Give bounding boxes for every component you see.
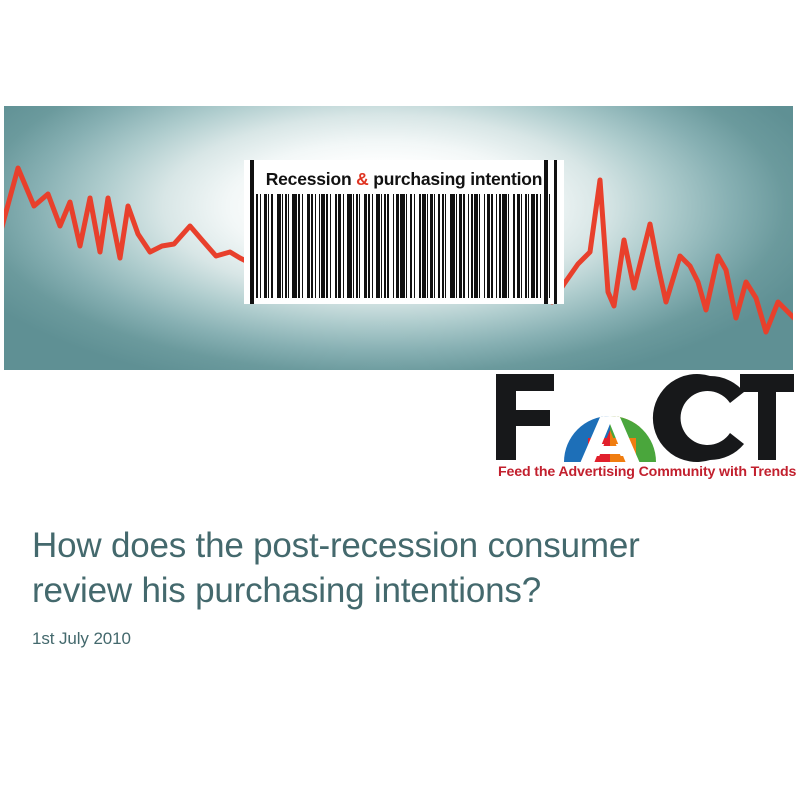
barcode-bar — [487, 194, 490, 298]
barcode-bar — [307, 194, 310, 298]
barcode-bar — [499, 194, 501, 298]
barcode-bar — [463, 194, 465, 298]
barcode-bar — [491, 194, 493, 298]
barcode-bar — [264, 194, 267, 298]
barcode-bar — [282, 194, 283, 298]
logo-tagline: Feed the Advertising Community with Tren… — [498, 464, 796, 480]
logo-letter-c — [653, 374, 744, 462]
barcode-bar — [315, 194, 316, 298]
barcode-bar — [528, 194, 529, 298]
barcode-bar — [459, 194, 462, 298]
barcode-bar — [256, 194, 258, 298]
barcode-graphic: Recession & purchasing intention — [244, 160, 564, 304]
barcode-bar — [393, 194, 394, 298]
barcode-bar — [521, 194, 522, 298]
barcode-bar — [335, 194, 337, 298]
barcode-bar — [298, 194, 300, 298]
barcode-bar — [410, 194, 412, 298]
barcode-bar — [381, 194, 382, 298]
barcode-bar — [277, 194, 281, 298]
barcode-bar — [285, 194, 287, 298]
barcode-bar — [484, 194, 485, 298]
barcode-bar — [549, 194, 550, 298]
barcode-caption-prefix: Recession — [266, 169, 356, 189]
barcode-bar — [302, 194, 303, 298]
barcode-bar — [400, 194, 405, 298]
barcode-bar — [387, 194, 389, 298]
barcode-bar — [406, 194, 407, 298]
barcode-bar — [396, 194, 399, 298]
barcode-bar — [517, 194, 520, 298]
logo-a-crossbar-white — [596, 446, 624, 454]
barcode-bar — [450, 194, 455, 298]
barcode-bar — [438, 194, 440, 298]
barcode-bar — [311, 194, 313, 298]
barcode-bar — [330, 194, 331, 298]
barcode-bar — [513, 194, 515, 298]
barcode-bar — [356, 194, 358, 298]
logo-wedge-red — [596, 368, 632, 416]
barcode-bar — [359, 194, 360, 298]
barcode-bar — [368, 194, 370, 298]
presentation-slide: Recession & purchasing intention — [0, 0, 800, 800]
barcode-bar — [414, 194, 415, 298]
barcode-bar — [456, 194, 457, 298]
barcode-bar — [445, 194, 446, 298]
logo-letter-f — [496, 374, 554, 460]
barcode-bar — [430, 194, 433, 298]
barcode-bar — [536, 194, 538, 298]
barcode-bars — [256, 194, 552, 298]
trend-line-right — [552, 180, 793, 332]
barcode-bar — [319, 194, 320, 298]
barcode-bar — [474, 194, 478, 298]
barcode-bar — [321, 194, 325, 298]
title-block: How does the post-recession consumer rev… — [32, 523, 762, 649]
barcode-caption-ampersand: & — [356, 169, 368, 189]
barcode-bar — [326, 194, 328, 298]
fact-logo: Feed the Advertising Community with Tren… — [492, 368, 796, 480]
barcode-bar — [384, 194, 386, 298]
barcode-bar — [271, 194, 273, 298]
barcode-caption: Recession & purchasing intention — [244, 166, 564, 192]
barcode-bar — [496, 194, 497, 298]
barcode-bar — [347, 194, 352, 298]
barcode-bar — [508, 194, 509, 298]
barcode-bar — [468, 194, 469, 298]
slide-date: 1st July 2010 — [32, 629, 762, 649]
barcode-bar — [471, 194, 473, 298]
barcode-bar — [525, 194, 527, 298]
barcode-bar — [376, 194, 380, 298]
page-title: How does the post-recession consumer rev… — [32, 523, 762, 613]
barcode-caption-text: Recession & purchasing intention — [266, 169, 543, 190]
trend-line-left — [4, 168, 258, 292]
barcode-bar — [540, 194, 541, 298]
barcode-bar — [343, 194, 344, 298]
barcode-bar — [364, 194, 367, 298]
barcode-bar — [427, 194, 428, 298]
hero-banner: Recession & purchasing intention — [4, 106, 793, 370]
barcode-guard-bar-left — [250, 160, 254, 304]
barcode-bar — [338, 194, 341, 298]
barcode-bar — [268, 194, 269, 298]
barcode-guard-bar-right-outer — [554, 160, 557, 304]
barcode-bar — [353, 194, 354, 298]
barcode-bar — [292, 194, 297, 298]
barcode-bar — [288, 194, 289, 298]
barcode-bar — [502, 194, 507, 298]
barcode-bar — [442, 194, 444, 298]
barcode-bar — [419, 194, 421, 298]
barcode-bar — [260, 194, 261, 298]
barcode-bar — [372, 194, 373, 298]
logo-letter-t — [740, 374, 794, 460]
barcode-bar — [422, 194, 426, 298]
barcode-bar — [434, 194, 435, 298]
barcode-bar — [531, 194, 535, 298]
barcode-caption-suffix: purchasing intention — [369, 169, 543, 189]
barcode-bar — [545, 194, 548, 298]
barcode-bar — [479, 194, 480, 298]
